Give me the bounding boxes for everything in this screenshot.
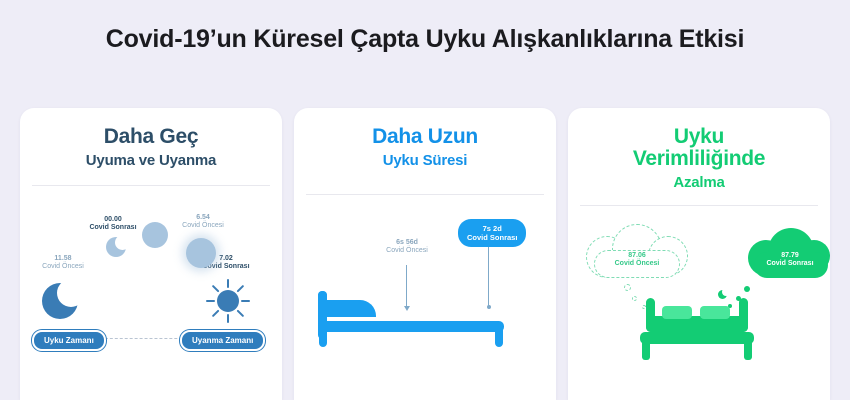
card3-title-line2: Verimliliğinde — [580, 148, 818, 170]
annotation-value: 6.54 — [170, 214, 236, 222]
full-moon-glow-icon — [186, 238, 216, 268]
card2-title: Daha Uzun — [306, 126, 544, 148]
card-longer-sleep-duration: Daha Uzun Uyku Süresi 6s 56d Covid Önces… — [294, 108, 556, 400]
thought-bubble-small — [632, 296, 637, 301]
annotation-value: 11.58 — [30, 255, 96, 263]
bed-pillow-right — [700, 306, 730, 319]
sun-ray — [236, 310, 244, 318]
bed-leg-left — [642, 342, 650, 360]
card2-header: Daha Uzun Uyku Süresi — [294, 108, 556, 169]
pill-sleep-time[interactable]: Uyku Zamanı — [32, 330, 106, 351]
sun-icon — [206, 279, 250, 323]
green-bed-icon — [646, 298, 752, 370]
card1-subtitle: Uyuma ve Uyanma — [32, 152, 270, 169]
sun-ray — [212, 310, 220, 318]
sun-ray — [241, 300, 250, 302]
bed-frame — [640, 332, 754, 344]
annotation-pre-covid-duration: 6s 56d Covid Öncesi — [372, 239, 442, 255]
annotation-value: 6s 56d — [372, 239, 442, 247]
sun-ray — [236, 285, 244, 293]
sun-ray — [212, 285, 220, 293]
thought-bubble-small — [624, 284, 631, 291]
annotation-label: Covid Sonrası — [80, 224, 146, 232]
annotation-pre-covid-bedtime: 11.58 Covid Öncesi — [30, 255, 96, 271]
card2-body: 6s 56d Covid Öncesi 7s 2d Covid Sonrası — [294, 195, 556, 370]
thought-bubble-small — [744, 286, 750, 292]
annotation-post-covid-bedtime: 00.00 Covid Sonrası — [80, 216, 146, 232]
pill-value: 7s 2d — [483, 224, 502, 233]
sun-core — [217, 290, 239, 312]
annotation-pre-covid-efficiency: 87.06 Covid Öncesi — [592, 252, 682, 268]
card-sleep-efficiency-decline: Uyku Verimliliğinde Azalma 87.06 Covid Ö… — [568, 108, 830, 400]
annotation-value: 87.79 — [750, 252, 830, 260]
crescent-moon-large-icon — [42, 283, 78, 319]
card1-title: Daha Geç — [32, 126, 270, 148]
pill-wake-time[interactable]: Uyanma Zamanı — [180, 330, 265, 351]
annotation-label: Covid Öncesi — [372, 247, 442, 255]
sun-ray — [227, 314, 229, 323]
annotation-pre-covid-waketime: 6.54 Covid Öncesi — [170, 214, 236, 230]
full-moon-icon — [142, 222, 168, 248]
annotation-value: 00.00 — [80, 216, 146, 224]
bed-pillow-left — [662, 306, 692, 319]
annotation-value: 87.06 — [592, 252, 682, 260]
page-title: Covid-19’un Küresel Çapta Uyku Alışkanlı… — [0, 0, 850, 54]
bed-leg-left — [319, 329, 327, 347]
annotation-label: Covid Öncesi — [170, 222, 236, 230]
pill-label: Covid Sonrası — [467, 233, 517, 242]
annotation-post-covid-efficiency: 87.79 Covid Sonrası — [750, 252, 830, 268]
annotation-label: Covid Öncesi — [592, 260, 682, 268]
card3-header: Uyku Verimliliğinde Azalma — [568, 108, 830, 191]
pill-post-covid-duration[interactable]: 7s 2d Covid Sonrası — [458, 219, 526, 247]
bed-leg-right — [744, 342, 752, 360]
sun-ray — [206, 300, 215, 302]
card3-subtitle: Azalma — [580, 174, 818, 191]
annotation-label: Covid Sonrası — [750, 260, 830, 268]
bed-leg-right — [495, 329, 503, 347]
cards-row: Daha Geç Uyuma ve Uyanma 00.00 Covid Son… — [0, 108, 850, 400]
card1-header: Daha Geç Uyuma ve Uyanma — [20, 108, 282, 169]
annotation-label: Covid Öncesi — [30, 263, 96, 271]
bed-icon — [318, 291, 532, 355]
sun-ray — [227, 279, 229, 288]
crescent-moon-small-icon — [106, 237, 126, 257]
card2-subtitle: Uyku Süresi — [306, 152, 544, 169]
card-later-sleep-wake: Daha Geç Uyuma ve Uyanma 00.00 Covid Son… — [20, 108, 282, 400]
card3-title-line1: Uyku — [580, 126, 818, 148]
bed-mattress — [646, 316, 748, 332]
card3-body: 87.06 Covid Öncesi 87.79 Covid Sonrası — [568, 206, 830, 381]
bed-frame — [318, 321, 504, 332]
card1-body: 00.00 Covid Sonrası 6.54 Covid Öncesi 11… — [20, 186, 282, 361]
